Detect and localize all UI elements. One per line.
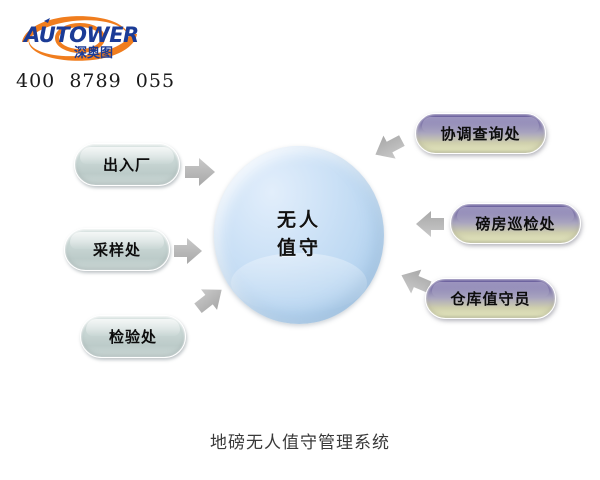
arrow-down-left-coordination	[369, 129, 408, 166]
arrow-right-sampling	[174, 238, 202, 264]
node-label: 磅房巡检处	[475, 213, 555, 234]
node-label: 仓库值守员	[450, 288, 530, 309]
node-weighroom-patrol-office[interactable]: 磅房巡检处	[450, 203, 581, 244]
node-warehouse-attendant[interactable]: 仓库值守员	[425, 278, 556, 319]
weighbridge-system-diagram: 无人 值守 出入厂 采样处 检验处 协调查询处 磅房巡检处 仓库值守员	[0, 0, 600, 480]
center-node-label: 无人 值守	[277, 207, 321, 262]
node-label: 检验处	[109, 326, 157, 347]
arrow-up-right-inspection	[190, 280, 230, 319]
node-sampling-office[interactable]: 采样处	[64, 228, 170, 271]
node-inspection-office[interactable]: 检验处	[80, 315, 186, 358]
center-node-unmanned[interactable]: 无人 值守	[214, 146, 384, 324]
node-label: 采样处	[93, 239, 141, 260]
arrow-left-weighroom	[416, 211, 444, 237]
node-coordination-inquiry-office[interactable]: 协调查询处	[415, 113, 546, 154]
arrow-right-entry	[185, 158, 215, 186]
node-label: 出入厂	[103, 154, 151, 175]
node-entry-exit-factory[interactable]: 出入厂	[74, 143, 180, 186]
diagram-caption: 地磅无人值守管理系统	[0, 428, 600, 453]
node-label: 协调查询处	[440, 123, 520, 144]
